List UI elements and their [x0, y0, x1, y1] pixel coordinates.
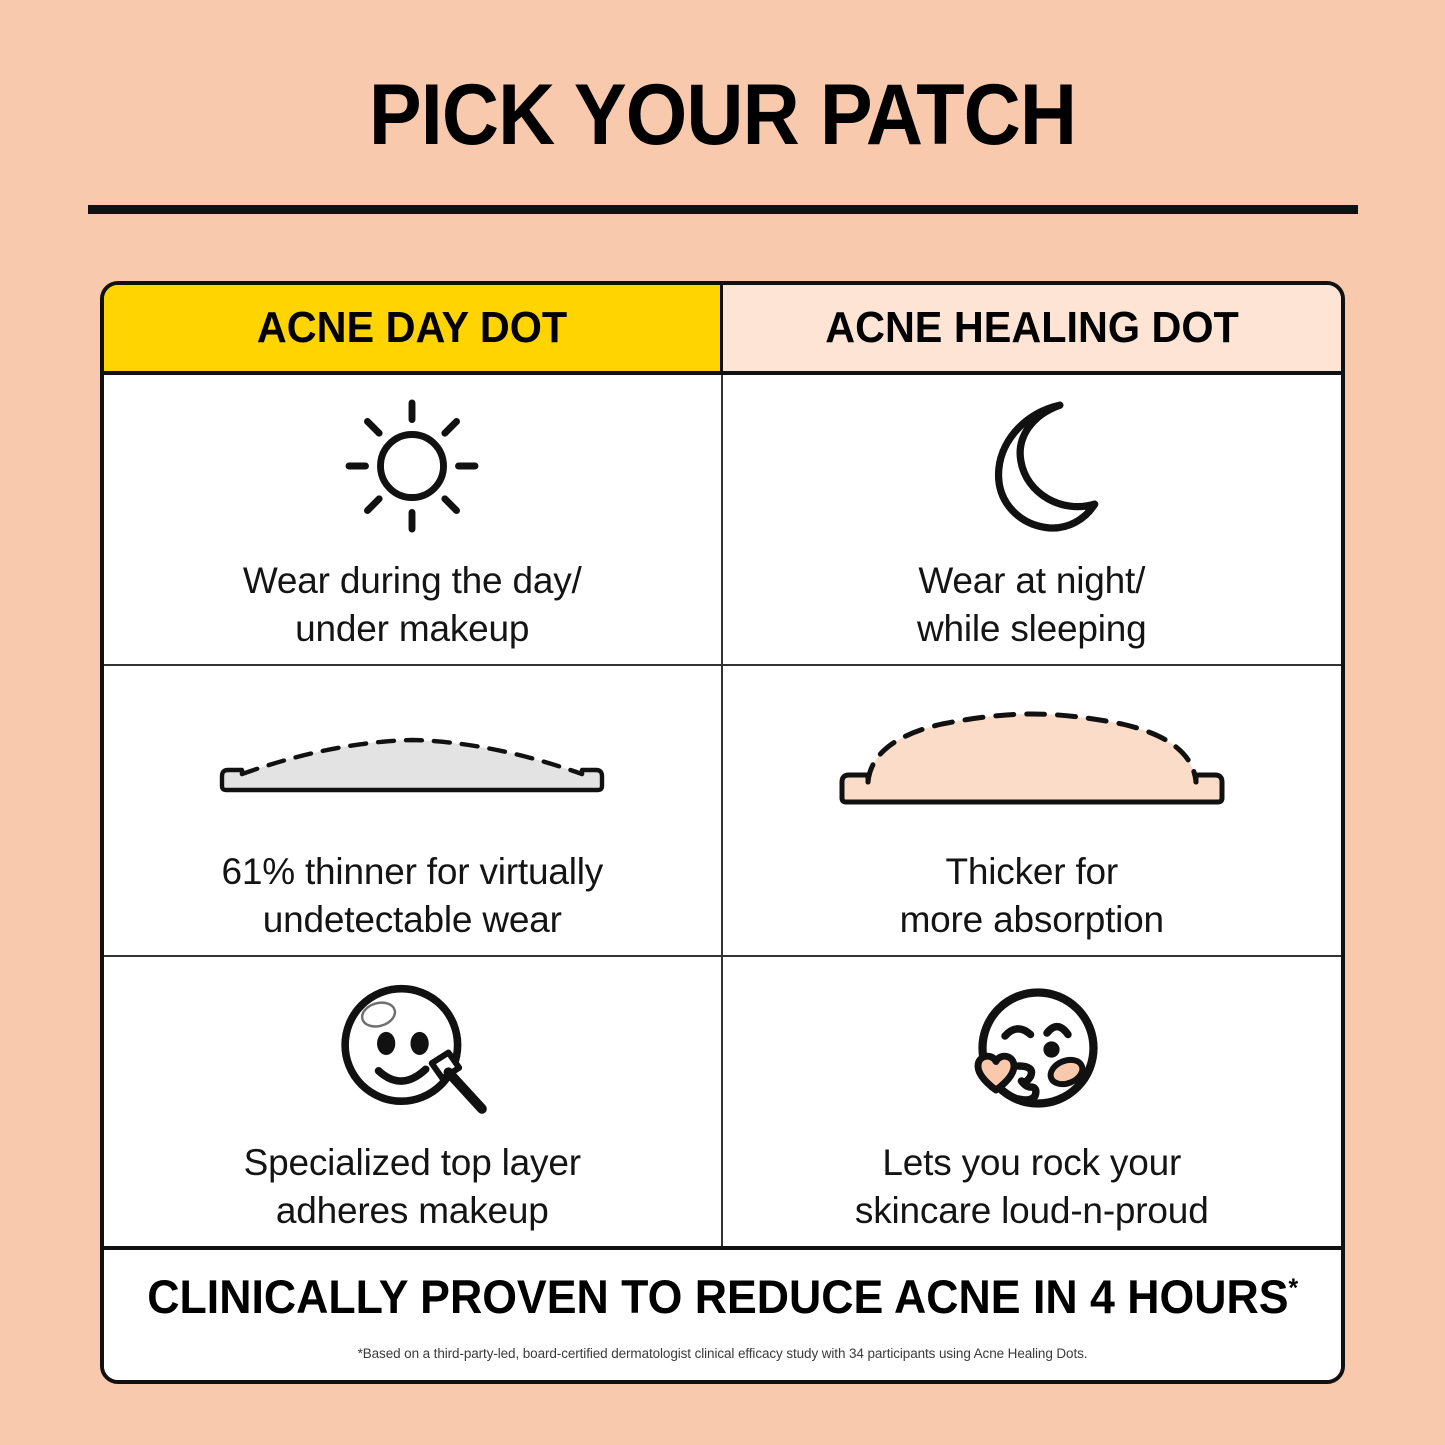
footnote-disclaimer: *Based on a third-party-led, board-certi…: [358, 1346, 1088, 1361]
cell-caption: Wear during the day/ under makeup: [243, 557, 582, 652]
table-header-row: ACNE DAY DOT ACNE HEALING DOT: [104, 285, 1341, 375]
kissing-face-with-heart-icon: [948, 969, 1116, 1127]
claim-asterisk: *: [1288, 1272, 1298, 1302]
comparison-grid: ACNE DAY DOT ACNE HEALING DOT: [104, 285, 1341, 1246]
title-divider: [88, 205, 1358, 214]
thick-patch-cross-section-icon: [832, 678, 1232, 836]
table-row: Wear during the day/ under makeup Wear a…: [104, 375, 1341, 664]
column-header-acne-healing-dot: ACNE HEALING DOT: [723, 285, 1342, 371]
cell-caption: Thicker for more absorption: [900, 848, 1164, 943]
clinical-claim: CLINICALLY PROVEN TO REDUCE ACNE IN 4 HO…: [147, 1269, 1298, 1324]
clinical-claim-text: CLINICALLY PROVEN TO REDUCE ACNE IN 4 HO…: [147, 1270, 1288, 1323]
cell-day-thickness: 61% thinner for virtually undetectable w…: [104, 666, 723, 955]
comparison-table: ACNE DAY DOT ACNE HEALING DOT: [100, 281, 1345, 1384]
column-header-label: ACNE DAY DOT: [257, 303, 567, 353]
thin-patch-cross-section-icon: [212, 678, 612, 836]
cell-caption: Lets you rock your skincare loud-n-proud: [855, 1139, 1209, 1234]
cell-night-benefit: Lets you rock your skincare loud-n-proud: [723, 957, 1342, 1246]
cell-caption: 61% thinner for virtually undetectable w…: [221, 848, 603, 943]
cell-day-when-to-wear: Wear during the day/ under makeup: [104, 375, 723, 664]
table-row: Specialized top layer adheres makeup: [104, 955, 1341, 1246]
column-header-acne-day-dot: ACNE DAY DOT: [104, 285, 723, 371]
cell-night-when-to-wear: Wear at night/ while sleeping: [723, 375, 1342, 664]
cell-day-benefit: Specialized top layer adheres makeup: [104, 957, 723, 1246]
pick-your-patch-infographic: PICK YOUR PATCH ACNE DAY DOT ACNE HEALIN…: [0, 0, 1445, 1445]
cell-caption: Wear at night/ while sleeping: [917, 557, 1147, 652]
face-with-makeup-brush-icon: [326, 969, 498, 1127]
footer-band: CLINICALLY PROVEN TO REDUCE ACNE IN 4 HO…: [104, 1246, 1341, 1380]
cell-night-thickness: Thicker for more absorption: [723, 666, 1342, 955]
table-row: 61% thinner for virtually undetectable w…: [104, 664, 1341, 955]
page-title: PICK YOUR PATCH: [58, 72, 1387, 158]
column-header-label: ACNE HEALING DOT: [825, 303, 1239, 353]
moon-icon: [962, 387, 1102, 545]
sun-icon: [337, 387, 487, 545]
cell-caption: Specialized top layer adheres makeup: [244, 1139, 581, 1234]
